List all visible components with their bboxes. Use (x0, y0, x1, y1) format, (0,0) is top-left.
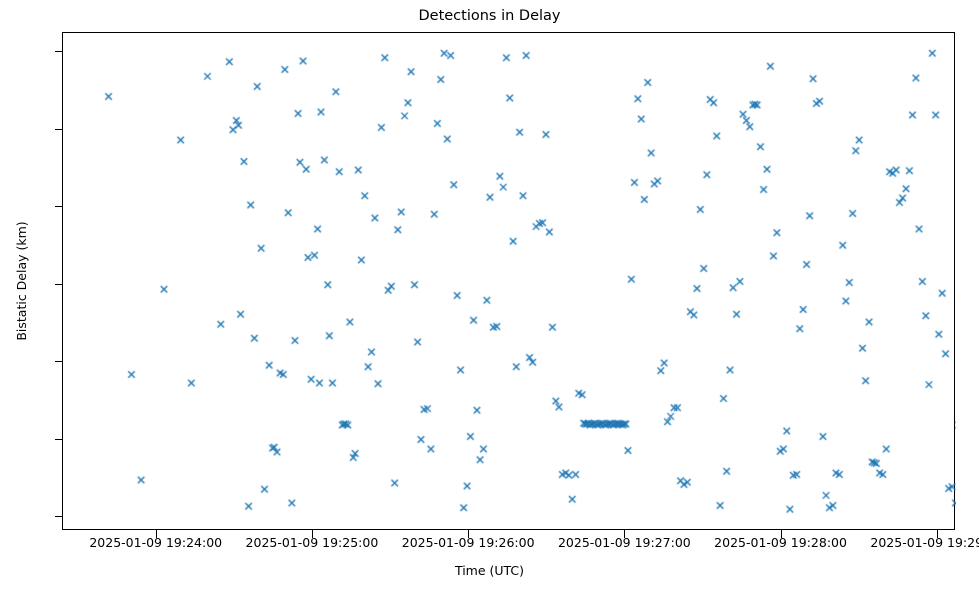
x-axis-tick-mark (312, 530, 313, 538)
y-axis-tick-mark (55, 361, 63, 362)
x-axis-tick-label: 2025-01-09 19:29:00 (870, 535, 979, 550)
plot-axes (62, 32, 955, 530)
scatter-plot-canvas (63, 33, 956, 531)
figure-canvas: Detections in Delay 0102030405060 2025-0… (0, 0, 979, 590)
x-axis-tick-mark (156, 530, 157, 538)
x-axis-tick-mark (624, 530, 625, 538)
y-axis-tick-mark (55, 439, 63, 440)
x-axis-tick-mark (937, 530, 938, 538)
chart-title: Detections in Delay (0, 8, 979, 24)
y-axis-tick-mark (55, 284, 63, 285)
x-axis-tick-mark (781, 530, 782, 538)
y-axis-tick-mark (55, 51, 63, 52)
y-axis-tick-mark (55, 206, 63, 207)
y-axis-tick-mark (55, 516, 63, 517)
y-axis-label: Bistatic Delay (km) (14, 32, 34, 530)
y-axis-tick-mark (55, 129, 63, 130)
x-axis-label: Time (UTC) (0, 563, 979, 578)
x-axis-tick-mark (468, 530, 469, 538)
